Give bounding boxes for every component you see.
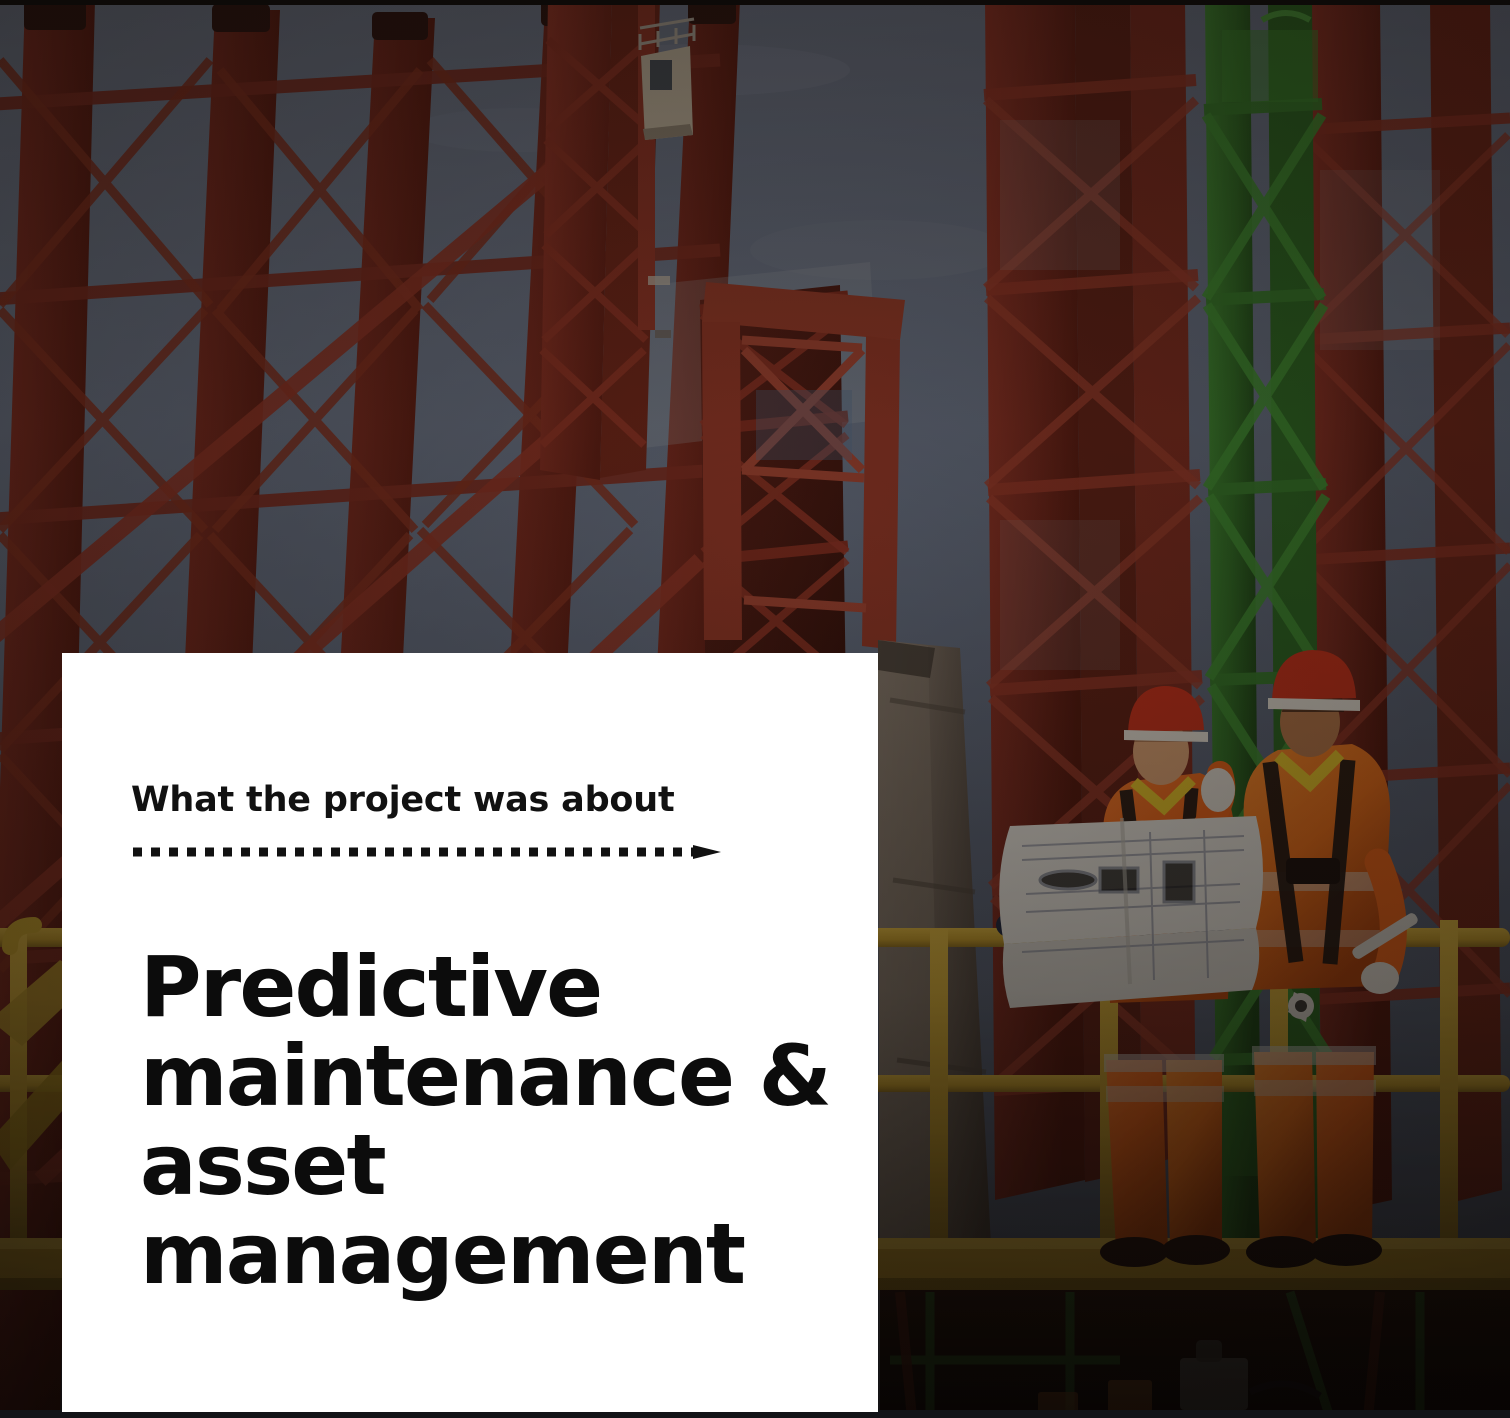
eyebrow-label: What the project was about xyxy=(131,783,731,818)
page-title: Predictive maintenance & asset managemen… xyxy=(140,943,840,1299)
eyebrow-wrap: What the project was about xyxy=(131,783,731,818)
text-card: What the project was about Predictive ma… xyxy=(62,653,878,1412)
blueprint xyxy=(999,816,1263,1008)
dashed-arrow-icon xyxy=(131,845,721,859)
machinery-below-deck xyxy=(880,1290,1510,1418)
top-letterbox-bar xyxy=(0,0,1510,5)
presentation-slide: What the project was about Predictive ma… xyxy=(0,0,1510,1418)
